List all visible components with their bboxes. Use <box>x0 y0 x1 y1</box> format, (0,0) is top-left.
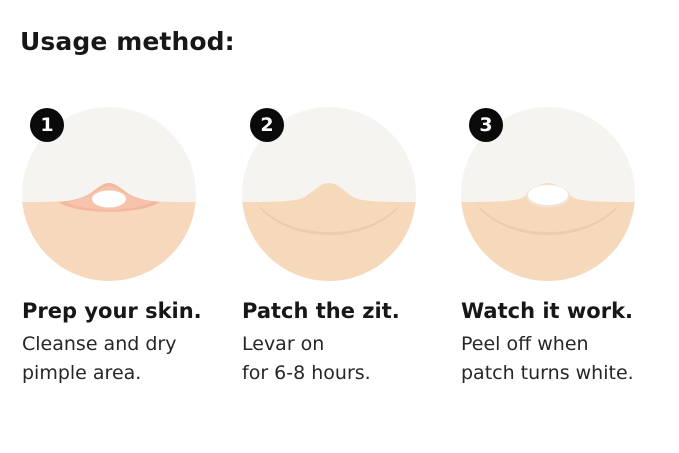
step-illustration-1: 1 <box>22 107 196 281</box>
step-number-badge-3: 3 <box>469 108 503 142</box>
step-body-1: Cleanse and dry pimple area. <box>22 330 237 389</box>
step-body-line: pimple area. <box>22 359 237 388</box>
steps-container: 1 Prep your skin. Cleanse and dry pimple… <box>0 0 679 453</box>
step-body-line: patch turns white. <box>461 359 676 388</box>
step-number-badge-2: 2 <box>250 108 284 142</box>
step-body-line: for 6-8 hours. <box>242 359 457 388</box>
step-card-2: 2 Patch the zit. Levar on for 6-8 hours. <box>230 0 450 453</box>
step-heading-1: Prep your skin. <box>22 298 237 325</box>
step-body-2: Levar on for 6-8 hours. <box>242 330 457 389</box>
step-captions-2: Patch the zit. Levar on for 6-8 hours. <box>242 298 457 389</box>
step-captions-3: Watch it work. Peel off when patch turns… <box>461 298 676 389</box>
step-captions-1: Prep your skin. Cleanse and dry pimple a… <box>22 298 237 389</box>
step-heading-3: Watch it work. <box>461 298 676 325</box>
step-illustration-2: 2 <box>242 107 416 281</box>
step-card-3: 3 Watch it work. Peel off when patch tur… <box>449 0 669 453</box>
step-body-3: Peel off when patch turns white. <box>461 330 676 389</box>
step-body-line: Levar on <box>242 330 457 359</box>
step-body-line: Cleanse and dry <box>22 330 237 359</box>
step-illustration-3: 3 <box>461 107 635 281</box>
step-number-badge-1: 1 <box>30 108 64 142</box>
step-heading-2: Patch the zit. <box>242 298 457 325</box>
step-card-1: 1 Prep your skin. Cleanse and dry pimple… <box>10 0 230 453</box>
step-body-line: Peel off when <box>461 330 676 359</box>
